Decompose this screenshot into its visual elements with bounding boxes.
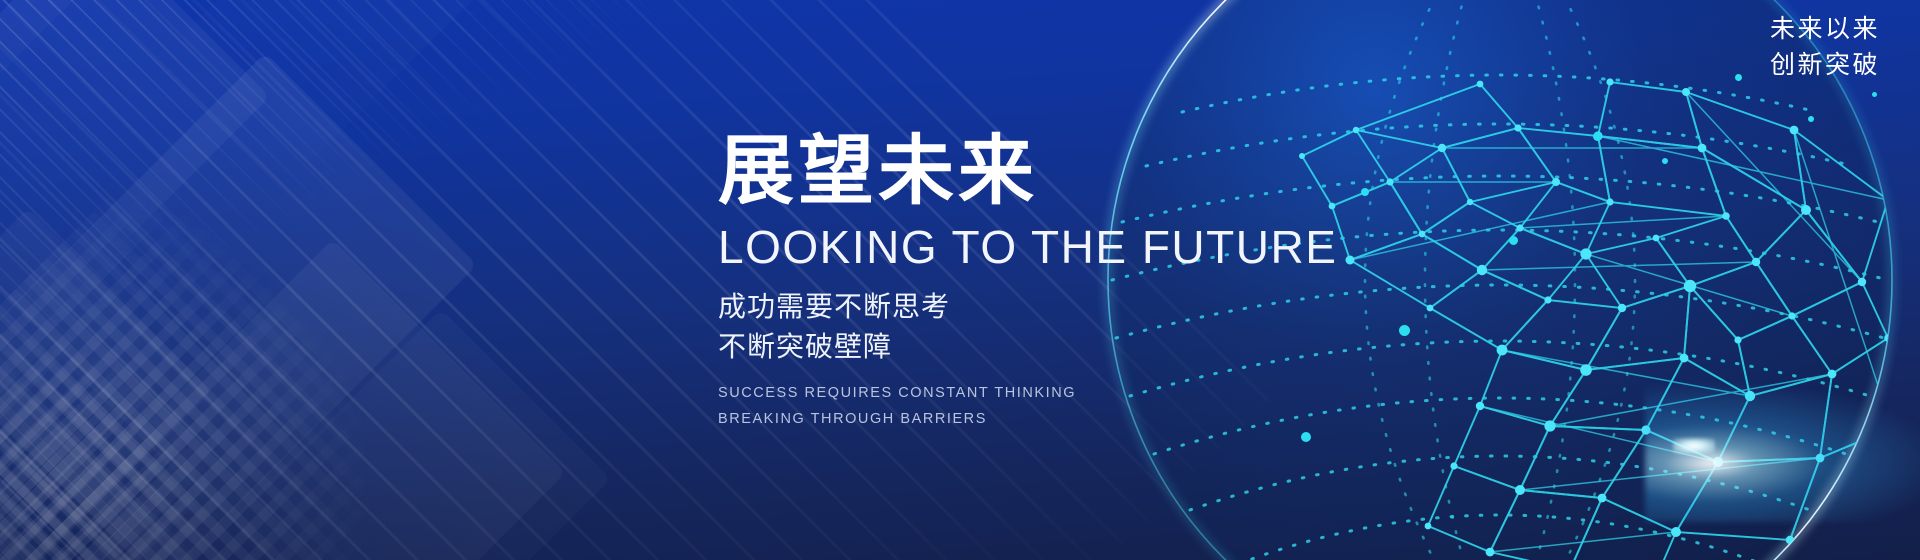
spark-dot <box>1399 325 1410 336</box>
page-title: 展望未来 <box>718 132 1358 211</box>
spark-dot <box>1301 432 1311 442</box>
diagonal-rectangle <box>229 309 611 560</box>
corner-slogan-line-1: 未来以来 <box>1770 12 1880 48</box>
spark-dot <box>1509 236 1518 245</box>
corner-slogan-line-2: 创新突破 <box>1770 48 1880 84</box>
diagonal-rectangle <box>0 0 108 163</box>
subtitle-en-line-1: SUCCESS REQUIRES CONSTANT THINKING <box>718 380 1358 406</box>
corner-slogan: 未来以来 创新突破 <box>1770 12 1880 83</box>
checkered-dot-grid <box>0 149 481 560</box>
promo-banner: 展望未来 LOOKING TO THE FUTURE 成功需要不断思考 不断突破… <box>0 0 1920 560</box>
subtitle-en-line-2: BREAKING THROUGH BARRIERS <box>718 406 1358 432</box>
diagonal-rectangle <box>0 208 212 560</box>
diagonal-rectangle <box>0 0 270 330</box>
diagonal-rectangle <box>64 239 566 560</box>
subtitle-cn-line-1: 成功需要不断思考 <box>718 287 1358 327</box>
diagonal-rectangle <box>0 53 477 560</box>
diagonal-rectangle <box>179 0 490 166</box>
spark-dot <box>1808 116 1814 122</box>
hero-text-block: 展望未来 LOOKING TO THE FUTURE 成功需要不断思考 不断突破… <box>718 132 1358 433</box>
spark-dot <box>1662 158 1668 164</box>
spark-dot <box>1735 74 1742 81</box>
checkered-dot-grid <box>0 258 287 560</box>
page-title-english: LOOKING TO THE FUTURE <box>718 223 1358 271</box>
spark-dot <box>1361 188 1369 196</box>
spark-dot <box>1872 92 1877 97</box>
globe-glow-hotspot <box>1673 438 1715 454</box>
spark-dot <box>1593 132 1602 141</box>
subtitle-cn-line-2: 不断突破壁障 <box>718 327 1358 367</box>
globe-horizon-glow <box>1645 382 1920 522</box>
